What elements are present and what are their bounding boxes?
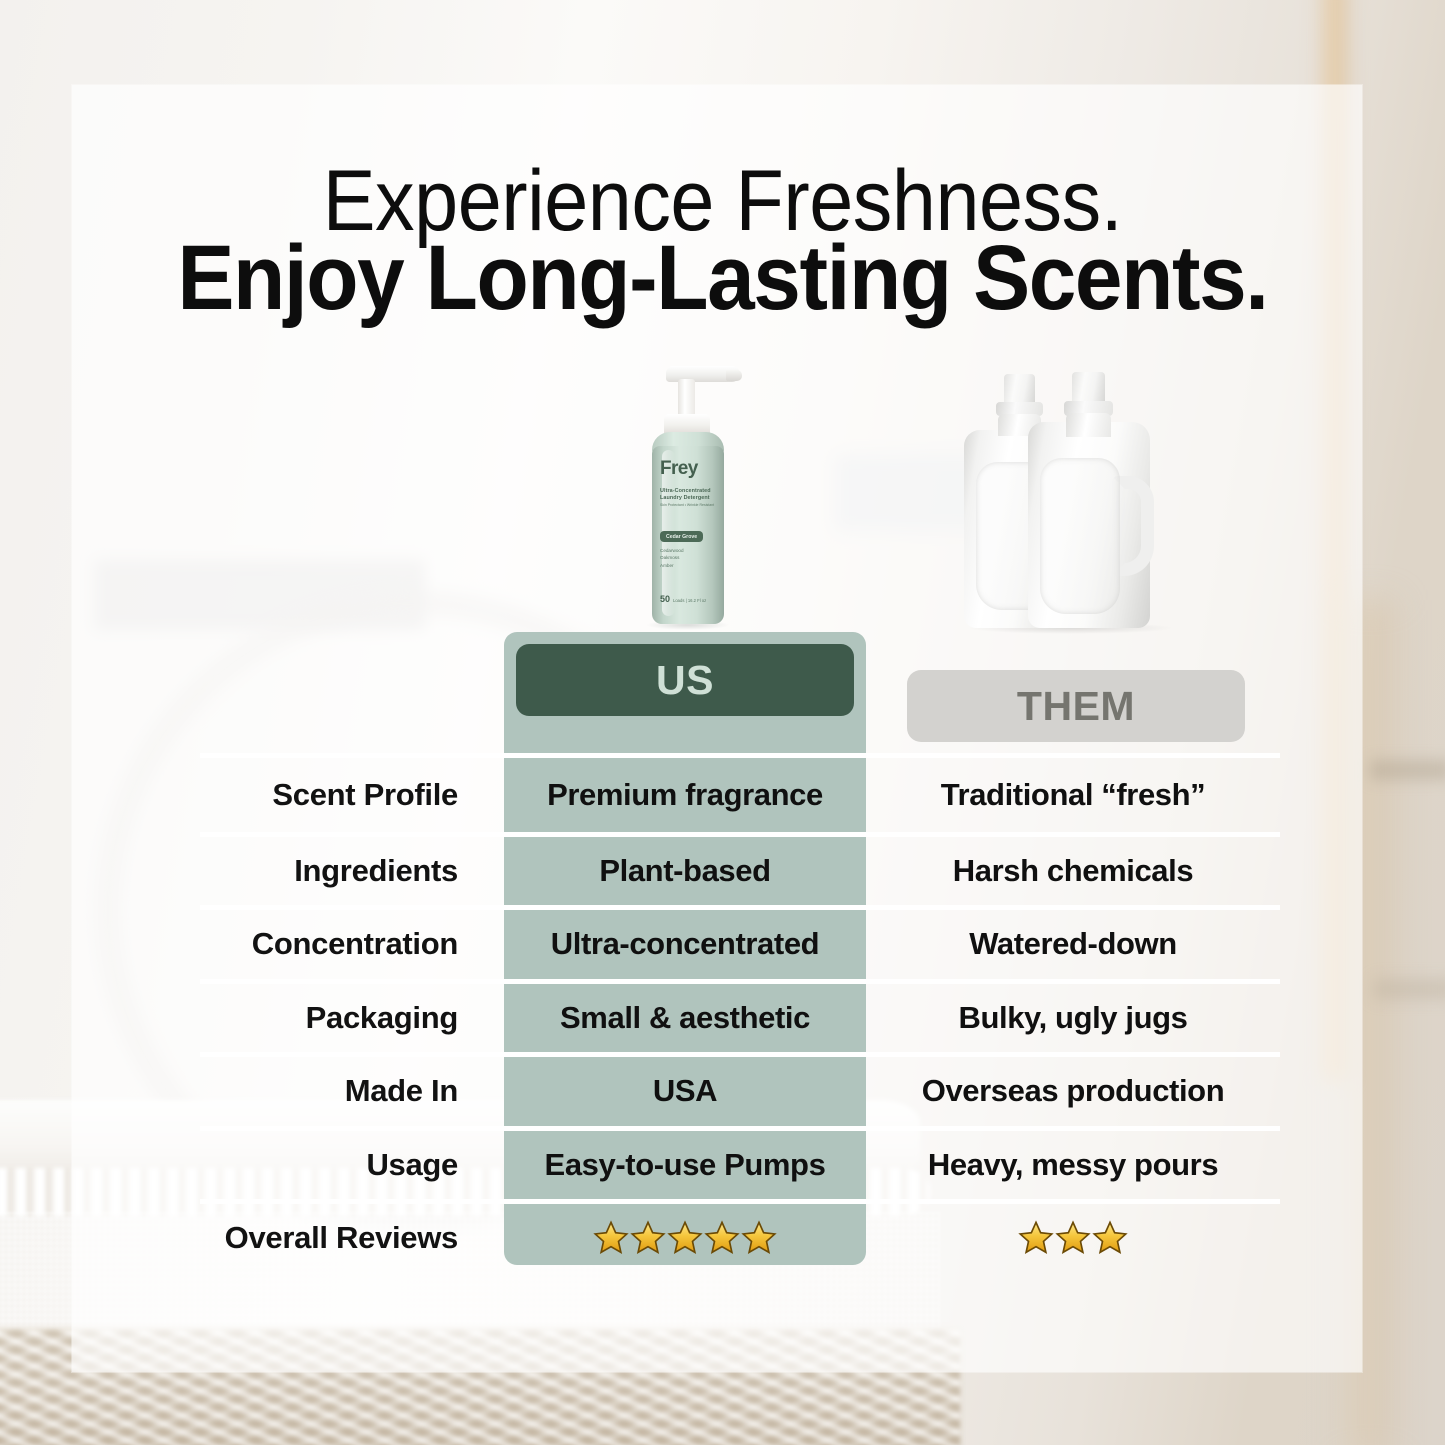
table-row: Scent ProfilePremium fragranceTraditiona…	[200, 758, 1280, 832]
comparison-rows: Scent ProfilePremium fragranceTraditiona…	[200, 753, 1280, 1273]
row-label: Packaging	[200, 1000, 504, 1036]
bottle-loads-label: Loads | 16.2 Fl oz	[673, 598, 706, 603]
star-icon	[741, 1220, 777, 1256]
table-row: IngredientsPlant-basedHarsh chemicals	[200, 832, 1280, 906]
jug-back-cap	[1004, 374, 1035, 404]
cell-us-value: Plant-based	[504, 853, 866, 889]
column-header-us: US	[516, 644, 854, 716]
infographic-canvas: Experience Freshness. Enjoy Long-Lasting…	[0, 0, 1445, 1445]
star-icon	[704, 1220, 740, 1256]
bottle-loads-info: 50 Loads | 16.2 Fl oz	[660, 594, 720, 604]
frey-pump-bottle-image: Frey Ultra-Concentrated Laundry Detergen…	[638, 366, 742, 634]
table-row: PackagingSmall & aestheticBulky, ugly ju…	[200, 979, 1280, 1053]
star-icon	[630, 1220, 666, 1256]
bottle-descriptor: Ultra-Concentrated Laundry Detergent	[660, 488, 720, 501]
row-label: Concentration	[200, 926, 504, 962]
bottle-loads-count: 50	[660, 594, 670, 604]
table-row: Overall Reviews	[200, 1199, 1280, 1273]
row-label: Usage	[200, 1147, 504, 1183]
cell-them-value: Overseas production	[866, 1073, 1280, 1109]
table-row: ConcentrationUltra-concentratedWatered-d…	[200, 905, 1280, 979]
pump-nozzle-tip	[726, 370, 742, 381]
bottle-label: Frey Ultra-Concentrated Laundry Detergen…	[652, 446, 724, 624]
us-star-rating	[504, 1220, 866, 1256]
star-icon	[593, 1220, 629, 1256]
star-icon	[1018, 1220, 1054, 1256]
cell-us-value: Small & aesthetic	[504, 1000, 866, 1036]
bottle-scent-notes: Cedarwood Oakmoss Amber	[660, 547, 718, 569]
cell-us-value: Ultra-concentrated	[504, 926, 866, 962]
row-label: Made In	[200, 1073, 504, 1109]
bottle-brand-name: Frey	[660, 458, 698, 480]
column-header-them: THEM	[907, 670, 1245, 742]
cell-them-value	[866, 1220, 1280, 1256]
competitor-jugs-image	[960, 366, 1200, 634]
pump-stem	[678, 379, 695, 419]
cell-them-value: Bulky, ugly jugs	[866, 1000, 1280, 1036]
them-star-rating	[866, 1220, 1280, 1256]
cell-us-value	[504, 1220, 866, 1256]
cell-us-value: Easy-to-use Pumps	[504, 1147, 866, 1183]
bottle-fine-print: Skin Protectant • Wrinkle Resistant	[660, 503, 720, 508]
table-row: UsageEasy-to-use PumpsHeavy, messy pours	[200, 1126, 1280, 1200]
bottle-scent-badge: Cedar Grove	[660, 531, 703, 542]
cell-them-value: Harsh chemicals	[866, 853, 1280, 889]
table-row: Made InUSAOverseas production	[200, 1052, 1280, 1126]
jug-front-cap	[1072, 372, 1105, 403]
row-label: Ingredients	[200, 853, 504, 889]
cell-them-value: Traditional “fresh”	[866, 777, 1280, 813]
cell-us-value: Premium fragrance	[504, 777, 866, 813]
cell-them-value: Watered-down	[866, 926, 1280, 962]
star-icon	[1055, 1220, 1091, 1256]
jug-front-neck	[1066, 413, 1111, 437]
cell-us-value: USA	[504, 1073, 866, 1109]
row-label: Overall Reviews	[200, 1220, 504, 1256]
star-icon	[1092, 1220, 1128, 1256]
row-label: Scent Profile	[200, 777, 504, 813]
jug-front-label-panel	[1040, 458, 1120, 614]
star-icon	[667, 1220, 703, 1256]
cell-them-value: Heavy, messy pours	[866, 1147, 1280, 1183]
